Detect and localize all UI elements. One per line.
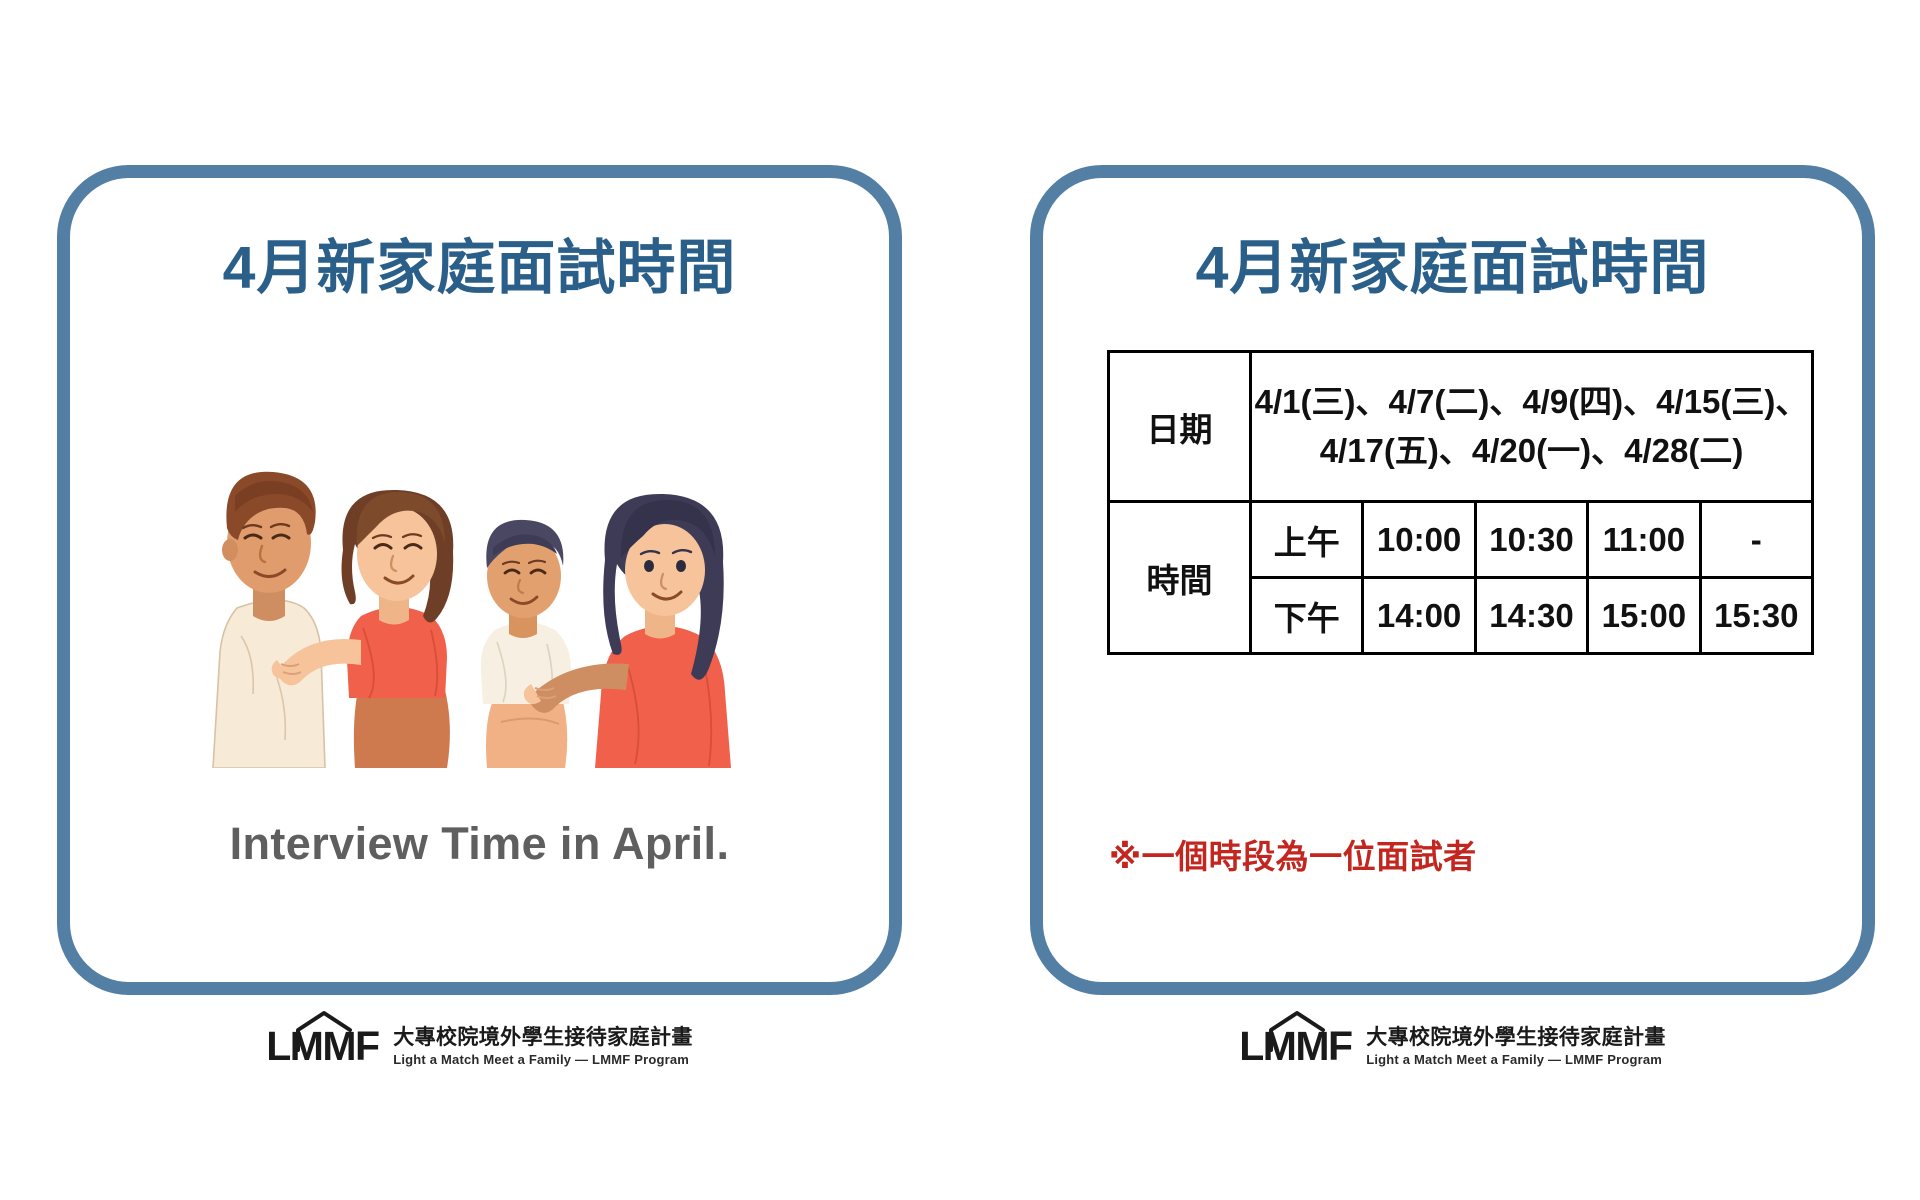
logo-row: LMMF 大專校院境外學生接待家庭計畫 Light a Match Meet a… bbox=[1239, 1016, 1666, 1068]
slot-afternoon-4: 15:30 bbox=[1700, 578, 1812, 654]
left-card-title: 4月新家庭面試時間 bbox=[70, 236, 889, 301]
org-name-en: Light a Match Meet a Family — LMMF Progr… bbox=[1366, 1053, 1666, 1067]
slot-afternoon-3: 15:00 bbox=[1588, 578, 1700, 654]
table-row-morning: 時間 上午 10:00 10:30 11:00 - bbox=[1109, 502, 1813, 578]
slot-afternoon-2: 14:30 bbox=[1475, 578, 1587, 654]
lmmf-wordmark: LMMF bbox=[266, 1016, 384, 1068]
slot-morning-3: 11:00 bbox=[1588, 502, 1700, 578]
period-label-afternoon: 下午 bbox=[1251, 578, 1363, 654]
lmmf-wordmark: LMMF bbox=[1239, 1016, 1357, 1068]
interview-note: ※一個時段為一位面試者 bbox=[1109, 830, 1477, 878]
right-card: 4月新家庭面試時間 日期 4/1(三)、4/7(二)、4/9(四)、4/15(三… bbox=[1030, 165, 1875, 995]
right-card-title: 4月新家庭面試時間 bbox=[1043, 236, 1862, 301]
right-card-panel: 4月新家庭面試時間 日期 4/1(三)、4/7(二)、4/9(四)、4/15(三… bbox=[1030, 165, 1875, 995]
logo-text-block: 大專校院境外學生接待家庭計畫 Light a Match Meet a Fami… bbox=[1366, 1027, 1666, 1068]
house-roof-icon bbox=[294, 1010, 354, 1054]
logo-row: LMMF 大專校院境外學生接待家庭計畫 Light a Match Meet a… bbox=[266, 1016, 693, 1068]
slot-afternoon-1: 14:00 bbox=[1363, 578, 1475, 654]
org-name-cn: 大專校院境外學生接待家庭計畫 bbox=[393, 1027, 693, 1049]
date-label-cell: 日期 bbox=[1109, 352, 1251, 502]
left-card-panel: 4月新家庭面試時間 bbox=[57, 165, 902, 995]
left-card: 4月新家庭面試時間 bbox=[57, 165, 902, 995]
date-values-cell: 4/1(三)、4/7(二)、4/9(四)、4/15(三)、 4/17(五)、4/… bbox=[1251, 352, 1813, 502]
slot-morning-2: 10:30 bbox=[1475, 502, 1587, 578]
date-line-1: 4/1(三)、4/7(二)、4/9(四)、4/15(三)、 bbox=[1255, 383, 1809, 420]
left-card-subtitle: Interview Time in April. bbox=[70, 818, 889, 870]
slot-morning-4: - bbox=[1700, 502, 1812, 578]
footer-logo-left: LMMF 大專校院境外學生接待家庭計畫 Light a Match Meet a… bbox=[57, 1008, 902, 1076]
schedule-table: 日期 4/1(三)、4/7(二)、4/9(四)、4/15(三)、 4/17(五)… bbox=[1107, 350, 1814, 655]
house-roof-icon bbox=[1267, 1010, 1327, 1054]
time-label-cell: 時間 bbox=[1109, 502, 1251, 654]
family-of-four-illustration bbox=[165, 378, 820, 768]
schedule-table-wrapper: 日期 4/1(三)、4/7(二)、4/9(四)、4/15(三)、 4/17(五)… bbox=[1107, 350, 1814, 655]
org-name-cn: 大專校院境外學生接待家庭計畫 bbox=[1366, 1027, 1666, 1049]
date-line-2: 4/17(五)、4/20(一)、4/28(二) bbox=[1320, 432, 1744, 469]
org-name-en: Light a Match Meet a Family — LMMF Progr… bbox=[393, 1053, 693, 1067]
poster-canvas: 4月新家庭面試時間 bbox=[0, 0, 1920, 1200]
period-label-morning: 上午 bbox=[1251, 502, 1363, 578]
logo-text-block: 大專校院境外學生接待家庭計畫 Light a Match Meet a Fami… bbox=[393, 1027, 693, 1068]
footer-logo-right: LMMF 大專校院境外學生接待家庭計畫 Light a Match Meet a… bbox=[1030, 1008, 1875, 1076]
table-row-dates: 日期 4/1(三)、4/7(二)、4/9(四)、4/15(三)、 4/17(五)… bbox=[1109, 352, 1813, 502]
slot-morning-1: 10:00 bbox=[1363, 502, 1475, 578]
